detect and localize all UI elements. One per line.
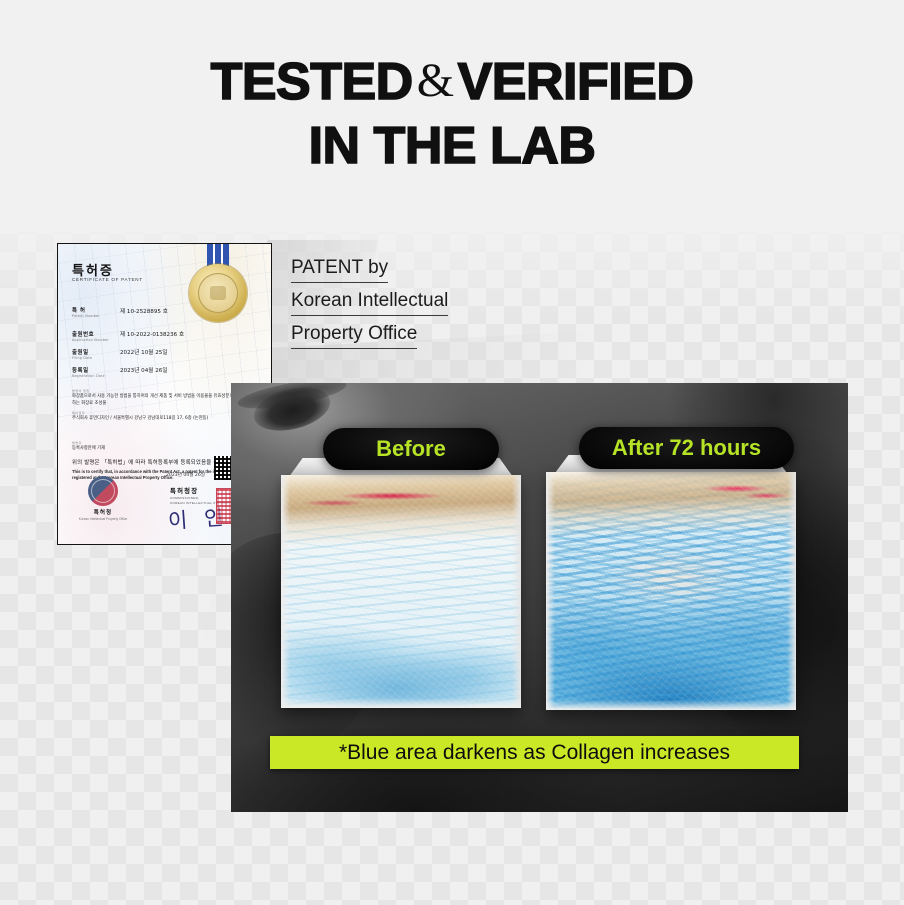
gold-seal-icon bbox=[189, 264, 247, 322]
patentee-text: 주식회사 휴먼디자인 / 서울특별시 강남구 강남대로118길 17, 6층 (… bbox=[72, 416, 248, 423]
patent-caption-line-1: PATENT by bbox=[291, 258, 388, 283]
invention-text: 화장품으로서 사용 가능한 방법을 통하여의 개선 제품 및 서비 방법을 이용… bbox=[72, 394, 248, 408]
page-title-line-1: TESTED&VERIFIED bbox=[0, 56, 904, 108]
kipo-logo-label-korean: 특허청 bbox=[78, 508, 128, 516]
header-background-band bbox=[0, 0, 904, 232]
sample-slide-before bbox=[281, 475, 521, 708]
kipo-logo: 특허청 Korean Intellectual Property Office bbox=[78, 476, 128, 521]
ampersand-glyph: & bbox=[413, 54, 458, 107]
commissioner-title-english-1: COMMISSIONER, bbox=[170, 496, 199, 500]
certificate-field-label-0: 특 허 Patent Number bbox=[72, 306, 100, 318]
slide-edge-right-after bbox=[787, 472, 796, 710]
page-title-line-2: IN THE LAB bbox=[0, 120, 904, 172]
certificate-field-label-2: 출원일 Filing Date bbox=[72, 348, 92, 360]
tissue-sample-after bbox=[546, 455, 796, 710]
sample-slide-after bbox=[546, 472, 796, 710]
invention-label: 발명의 명칭 bbox=[72, 388, 90, 393]
slide-edge-left-after bbox=[546, 472, 555, 710]
title-verified: VERIFIED bbox=[458, 53, 694, 111]
certificate-title-english: CERTIFICATE OF PATENT bbox=[72, 277, 143, 282]
tissue-sample-before bbox=[281, 458, 521, 708]
certificate-field-label-3: 등록일 Registration Date bbox=[72, 366, 105, 378]
patent-caption-line-2: Korean Intellectual bbox=[291, 291, 448, 316]
tissue-histology-before bbox=[281, 475, 521, 708]
certificate-field-label-1: 출원번호 Application Number bbox=[72, 330, 109, 342]
label-before: Before bbox=[323, 428, 499, 470]
slide-edge-bottom-before bbox=[281, 698, 521, 708]
certificate-field-value-3: 2023년 04월 26일 bbox=[120, 366, 167, 374]
taegeuk-icon bbox=[88, 476, 118, 506]
issue-date: 2023년 04월 26일 bbox=[166, 472, 205, 478]
tissue-histology-after bbox=[546, 472, 796, 710]
title-tested: TESTED bbox=[211, 53, 413, 111]
slide-edge-left-before bbox=[281, 475, 290, 708]
collagen-footnote-bar: *Blue area darkens as Collagen increases bbox=[270, 736, 799, 769]
slide-edge-right-before bbox=[512, 475, 521, 708]
patent-caption: PATENT by Korean Intellectual Property O… bbox=[291, 258, 551, 357]
before-after-photo-panel: Before After 72 hours *Blue area darkens… bbox=[231, 383, 848, 812]
inventor-text: 등록사항란에 기재 bbox=[72, 446, 248, 453]
label-after: After 72 hours bbox=[579, 427, 794, 469]
certificate-field-value-0: 제 10-2528895 호 bbox=[120, 307, 168, 315]
patent-caption-line-3: Property Office bbox=[291, 324, 417, 349]
certificate-field-value-1: 제 10-2022-0138236 호 bbox=[120, 330, 184, 338]
kipo-logo-label-english: Korean Intellectual Property Office bbox=[78, 517, 128, 521]
certificate-field-value-2: 2022년 10월 25일 bbox=[120, 348, 167, 356]
slide-edge-bottom-after bbox=[546, 700, 796, 710]
commissioner-title-korean: 특허청장 bbox=[170, 486, 198, 495]
inventor-label: 발명자 bbox=[72, 440, 82, 445]
patentee-label: 특허권자 bbox=[72, 410, 85, 415]
promo-page: TESTED&VERIFIED IN THE LAB 특허증 CERTIFICA… bbox=[0, 0, 904, 905]
